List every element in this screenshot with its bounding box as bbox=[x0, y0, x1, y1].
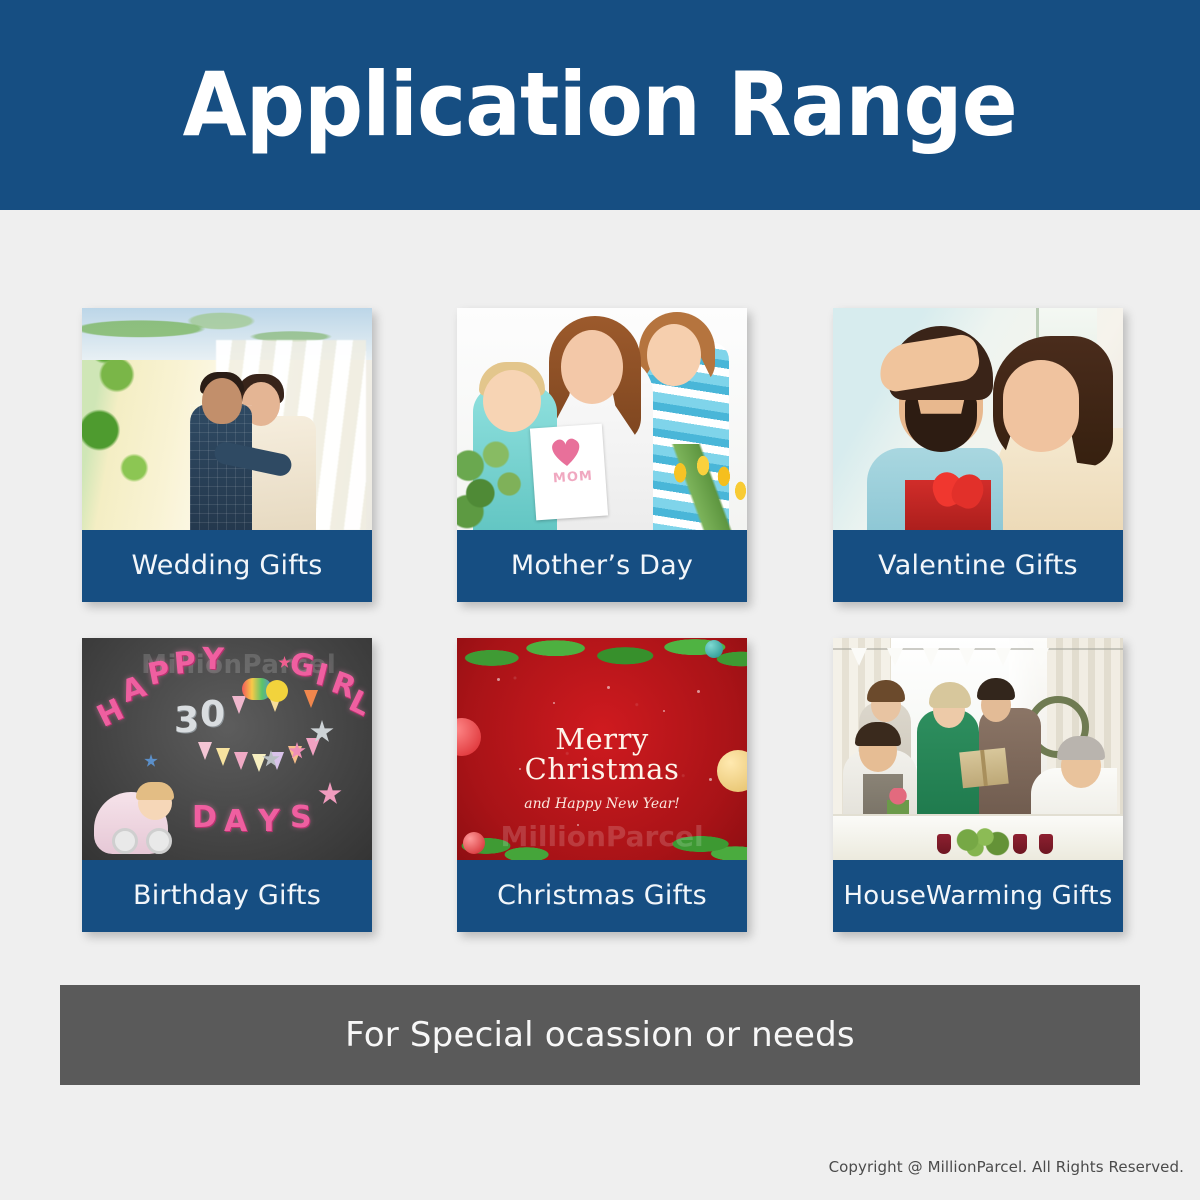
groom-face bbox=[202, 378, 242, 424]
snow-speck bbox=[663, 710, 665, 712]
card-label-mothers-day: Mother’s Day bbox=[457, 530, 747, 602]
card-label-birthday-gifts: Birthday Gifts bbox=[82, 860, 372, 932]
woman-face bbox=[1003, 360, 1079, 452]
mothers-day-photo: MOM bbox=[457, 308, 747, 530]
balloon-letter-y2: Y bbox=[258, 804, 280, 839]
notice-text: For Special ocassion or needs bbox=[345, 1015, 855, 1055]
card-valentine-gifts[interactable]: Valentine Gifts bbox=[833, 308, 1123, 602]
application-range-grid: Wedding Gifts MOM Mother’s Day bbox=[0, 210, 1200, 970]
christmas-greeting: Merry Christmas bbox=[457, 724, 747, 784]
card-christmas-gifts[interactable]: Merry Christmas and Happy New Year! Mill… bbox=[457, 638, 747, 932]
christmas-greeting-line1: Merry bbox=[457, 724, 747, 754]
balloon-number-3: 3 bbox=[174, 700, 199, 741]
wedding-gifts-photo bbox=[82, 308, 372, 530]
mom-card-text: MOM bbox=[553, 469, 594, 487]
house-warming-gifts-photo bbox=[833, 638, 1123, 860]
wrapped-gift bbox=[959, 748, 1009, 789]
snow-speck bbox=[553, 702, 555, 704]
card-label-house-warming-gifts: House Warming Gifts bbox=[833, 860, 1123, 932]
page-title: Application Range bbox=[183, 61, 1017, 149]
flower-vase bbox=[887, 788, 909, 814]
balloon-letter-p2: P bbox=[173, 645, 198, 682]
baby-face bbox=[483, 370, 541, 432]
page-header: Application Range bbox=[0, 0, 1200, 210]
christmas-gifts-photo: Merry Christmas and Happy New Year! Mill… bbox=[457, 638, 747, 860]
footer-copyright: Copyright @ MillionParcel. All Rights Re… bbox=[829, 1158, 1184, 1176]
balloon-letter-y: Y bbox=[201, 642, 224, 678]
salad-bowl bbox=[949, 828, 1011, 858]
card-wedding-gifts[interactable]: Wedding Gifts bbox=[82, 308, 372, 602]
balloon-number-0: 0 bbox=[200, 694, 225, 735]
balloon-letter-g: G bbox=[288, 646, 317, 684]
card-label-christmas-gifts: Christmas Gifts bbox=[457, 860, 747, 932]
doll-hair bbox=[136, 782, 174, 800]
bunting-string bbox=[833, 648, 1123, 650]
yellow-tulips bbox=[649, 444, 747, 530]
notice-banner: For Special ocassion or needs bbox=[60, 985, 1140, 1085]
smiley-badge bbox=[266, 680, 288, 702]
card-mothers-day[interactable]: MOM Mother’s Day bbox=[457, 308, 747, 602]
card-house-warming-gifts[interactable]: House Warming Gifts bbox=[833, 638, 1123, 932]
balloon-letter-a2: A bbox=[224, 804, 247, 839]
snow-speck bbox=[697, 690, 700, 693]
pram-wheel bbox=[146, 828, 172, 854]
card-birthday-gifts[interactable]: MillionParcel H A P P Y 3 0 G I R L D A … bbox=[82, 638, 372, 932]
card-label-wedding-gifts: Wedding Gifts bbox=[82, 530, 372, 602]
christmas-greeting-line2: Christmas bbox=[457, 754, 747, 784]
birthday-gifts-photo: MillionParcel H A P P Y 3 0 G I R L D A … bbox=[82, 638, 372, 860]
christmas-bauble bbox=[705, 640, 723, 658]
balloon-letter-s: S bbox=[290, 800, 312, 835]
valentine-gifts-photo bbox=[833, 308, 1123, 530]
card-label-line1: House bbox=[844, 881, 926, 912]
millionparcel-watermark: MillionParcel bbox=[457, 820, 747, 853]
snow-speck bbox=[607, 686, 610, 689]
pine-branches-top bbox=[457, 638, 747, 686]
card-label-valentine-gifts: Valentine Gifts bbox=[833, 530, 1123, 602]
card-label-line2: Warming Gifts bbox=[926, 881, 1112, 912]
wine-glass bbox=[937, 834, 951, 854]
green-plant bbox=[457, 438, 531, 530]
wine-glass bbox=[1039, 834, 1053, 854]
girl-face bbox=[647, 324, 701, 386]
mother-face bbox=[561, 330, 623, 404]
christmas-greeting-sub: and Happy New Year! bbox=[457, 796, 747, 812]
wine-glass bbox=[1013, 834, 1027, 854]
pram-wheel bbox=[112, 828, 138, 854]
balloon-letter-d: D bbox=[192, 800, 217, 835]
